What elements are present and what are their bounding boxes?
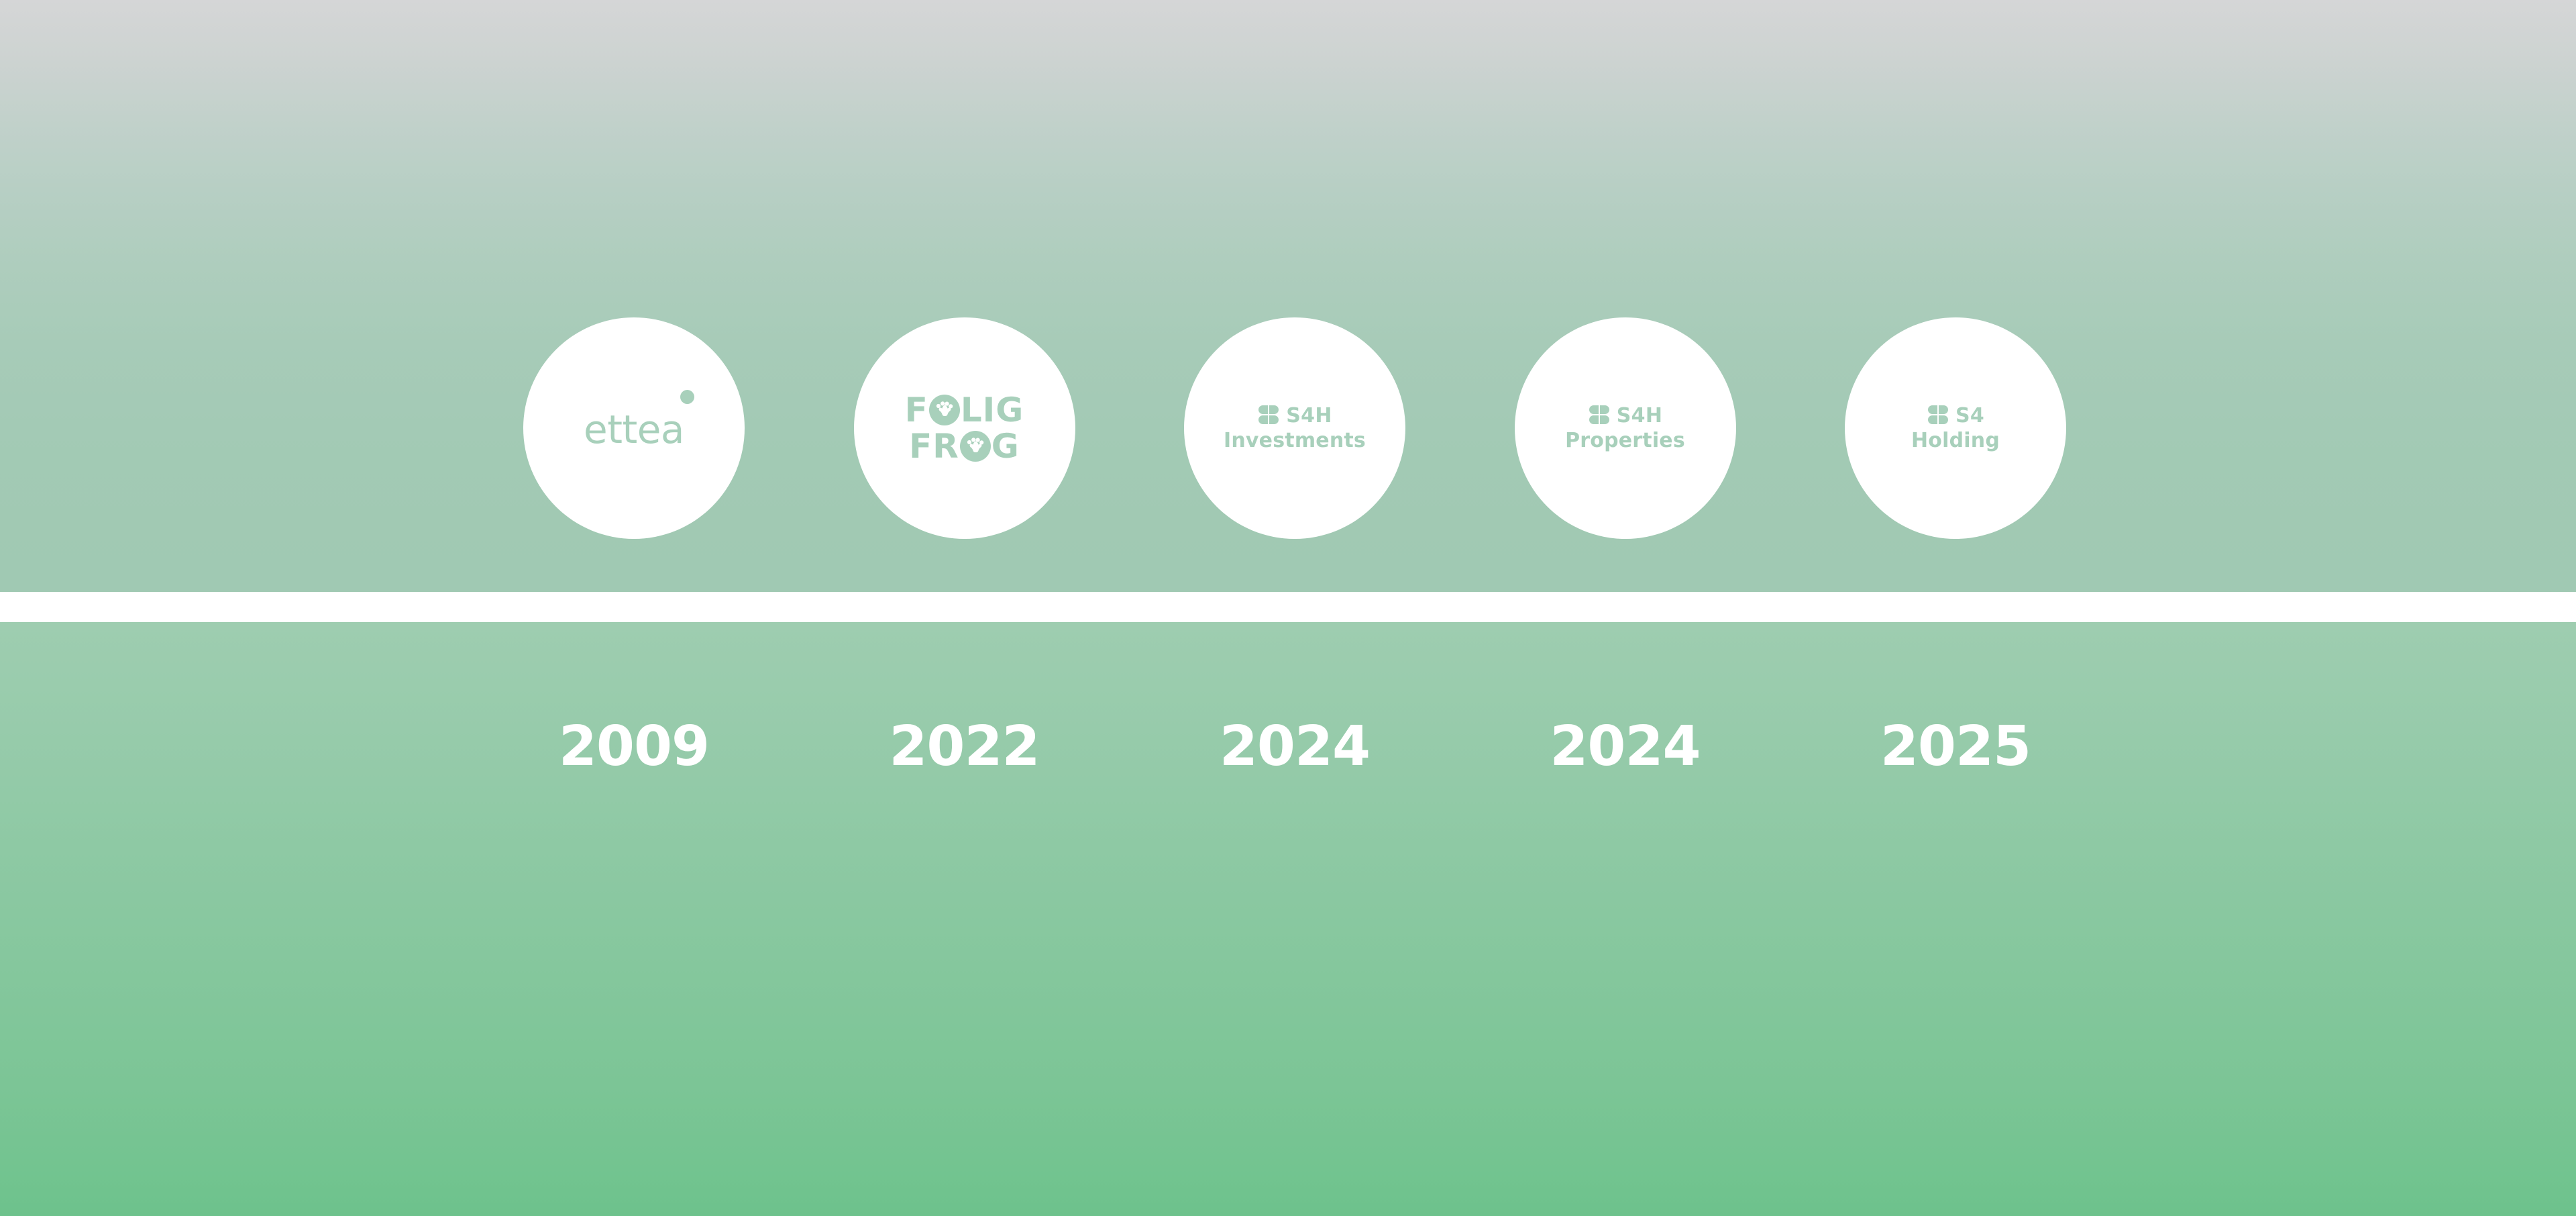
- folig-line2-suffix: G: [991, 429, 1020, 463]
- folig-line1-prefix: F: [905, 393, 928, 427]
- folig-frog-wordmark: F LIG: [905, 393, 1024, 463]
- white-divider-strip: [0, 592, 2576, 622]
- logo-circle-s4h-investments[interactable]: S4H Investments: [1184, 317, 1405, 539]
- timeline-year-2025: 2025: [1845, 719, 2066, 774]
- s4h-brand-text: S4: [1955, 404, 1984, 427]
- s4h-properties-lockup: S4H Properties: [1565, 404, 1685, 453]
- s4h-investments-lockup: S4H Investments: [1224, 404, 1366, 453]
- s4h-brand-text: S4H: [1617, 404, 1663, 427]
- folig-line-2: FR G: [909, 429, 1020, 463]
- clover-icon: [1588, 404, 1611, 427]
- ettea-wordmark: ettea: [584, 410, 684, 449]
- folig-line2-prefix: FR: [909, 429, 959, 463]
- timeline-year-2024-properties: 2024: [1515, 719, 1736, 774]
- s4h-subtitle: Investments: [1224, 429, 1366, 452]
- logo-circle-row: ettea F: [523, 317, 2066, 539]
- clover-icon: [1927, 404, 1949, 427]
- frog-foot-icon: [960, 431, 991, 462]
- folig-line-1: F LIG: [905, 393, 1024, 427]
- s4h-brand-row: S4H: [1588, 404, 1663, 427]
- timeline-year-2024-investments: 2024: [1184, 719, 1405, 774]
- s4-holding-lockup: S4 Holding: [1911, 404, 2000, 453]
- s4h-brand-row: S4H: [1257, 404, 1332, 427]
- s4h-brand-row: S4: [1927, 404, 1984, 427]
- timeline-page: ettea F: [0, 0, 2576, 1216]
- ettea-dot-icon: [680, 390, 694, 404]
- folig-line1-suffix: LIG: [961, 393, 1024, 427]
- s4h-subtitle: Holding: [1911, 429, 2000, 452]
- logo-circle-folig-frog[interactable]: F LIG: [854, 317, 1075, 539]
- logo-circle-ettea[interactable]: ettea: [523, 317, 745, 539]
- clover-icon: [1257, 404, 1280, 427]
- logo-circle-s4-holding[interactable]: S4 Holding: [1845, 317, 2066, 539]
- s4h-subtitle: Properties: [1565, 429, 1685, 452]
- timeline-year-2022: 2022: [854, 719, 1075, 774]
- logo-circle-s4h-properties[interactable]: S4H Properties: [1515, 317, 1736, 539]
- s4h-brand-text: S4H: [1286, 404, 1332, 427]
- ettea-wordmark-text: ettea: [584, 410, 684, 449]
- bottom-gradient-band: [0, 622, 2576, 1216]
- timeline-year-row: 2009 2022 2024 2024 2025: [523, 715, 2066, 778]
- frog-foot-icon: [929, 395, 960, 425]
- timeline-year-2009: 2009: [523, 719, 745, 774]
